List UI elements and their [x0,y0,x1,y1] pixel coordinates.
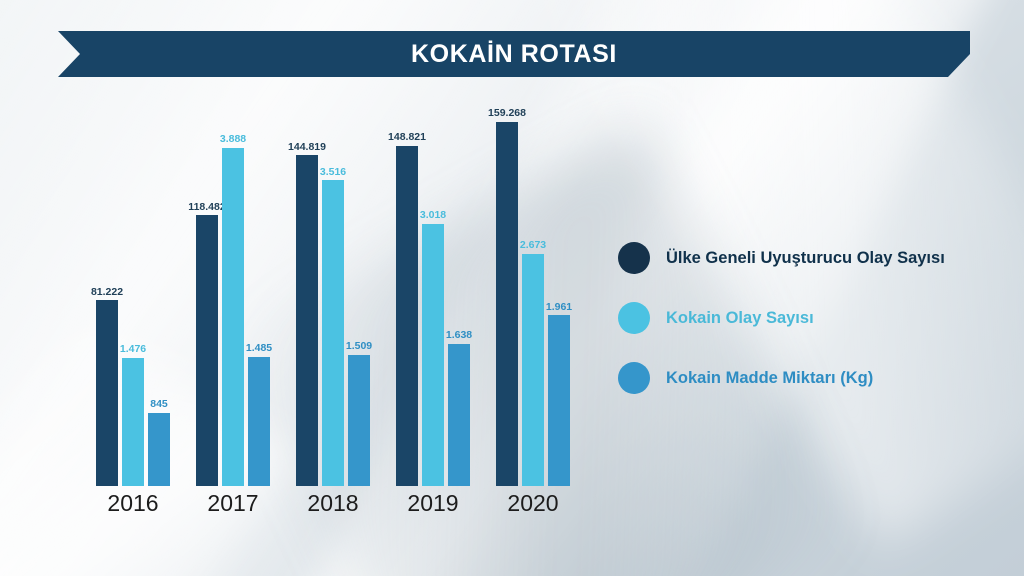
bar-2020-series-3: 1.961 [548,315,570,486]
bar-2017-series-1: 118.482 [196,215,218,486]
bar-value-label: 2.673 [520,240,546,251]
slide-canvas: KOKAİN ROTASI 81.2221.4768452016118.4823… [0,0,1024,576]
bar-value-label: 1.485 [246,343,272,354]
bar-value-label: 144.819 [288,142,326,153]
bar-group-2017: 118.4823.8881.4852017 [196,86,296,486]
x-axis-label-2019: 2019 [407,490,458,517]
bar-2019-series-3: 1.638 [448,344,470,486]
bar-2018-series-1: 144.819 [296,155,318,486]
bar-2018-series-3: 1.509 [348,355,370,486]
title-banner: KOKAİN ROTASI [58,31,970,77]
x-axis-label-2020: 2020 [507,490,558,517]
bar-2016-series-2: 1.476 [122,358,144,486]
legend-dot-cyan-icon [618,302,650,334]
legend-item-label: Kokain Madde Miktarı (Kg) [666,369,873,388]
bar-value-label: 1.638 [446,330,472,341]
bar-value-label: 3.888 [220,134,246,145]
legend-item-1[interactable]: Ülke Geneli Uyuşturucu Olay Sayısı [618,228,998,288]
legend-dot-blue-icon [618,362,650,394]
bar-2020-series-2: 2.673 [522,254,544,486]
x-axis-label-2016: 2016 [107,490,158,517]
bar-value-label: 81.222 [91,287,123,298]
x-axis-label-2017: 2017 [207,490,258,517]
bar-value-label: 3.018 [420,210,446,221]
bar-group-2018: 144.8193.5161.5092018 [296,86,396,486]
bar-value-label: 159.268 [488,108,526,119]
bar-2017-series-2: 3.888 [222,148,244,486]
bar-chart-plot-area: 81.2221.4768452016118.4823.8881.48520171… [96,86,596,486]
bar-2019-series-1: 148.821 [396,146,418,486]
legend-item-label: Ülke Geneli Uyuşturucu Olay Sayısı [666,249,945,268]
bar-2017-series-3: 1.485 [248,357,270,486]
bar-group-2019: 148.8213.0181.6382019 [396,86,496,486]
page-title: KOKAİN ROTASI [411,40,617,69]
bar-value-label: 148.821 [388,132,426,143]
bar-value-label: 1.961 [546,302,572,313]
bar-value-label: 1.509 [346,341,372,352]
bar-value-label: 1.476 [120,344,146,355]
legend-item-label: Kokain Olay Sayısı [666,309,814,328]
bar-group-2016: 81.2221.4768452016 [96,86,196,486]
chart-legend: Ülke Geneli Uyuşturucu Olay SayısıKokain… [618,228,998,408]
legend-dot-navy-icon [618,242,650,274]
bar-value-label: 118.482 [188,202,225,213]
x-axis-label-2018: 2018 [307,490,358,517]
bar-value-label: 3.516 [320,167,346,178]
bar-value-label: 845 [150,399,168,410]
bar-2016-series-3: 845 [148,413,170,486]
legend-item-3[interactable]: Kokain Madde Miktarı (Kg) [618,348,998,408]
bar-2019-series-2: 3.018 [422,224,444,486]
legend-item-2[interactable]: Kokain Olay Sayısı [618,288,998,348]
bar-2018-series-2: 3.516 [322,180,344,486]
bar-2016-series-1: 81.222 [96,300,118,486]
bar-2020-series-1: 159.268 [496,122,518,486]
bar-group-2020: 159.2682.6731.9612020 [496,86,596,486]
